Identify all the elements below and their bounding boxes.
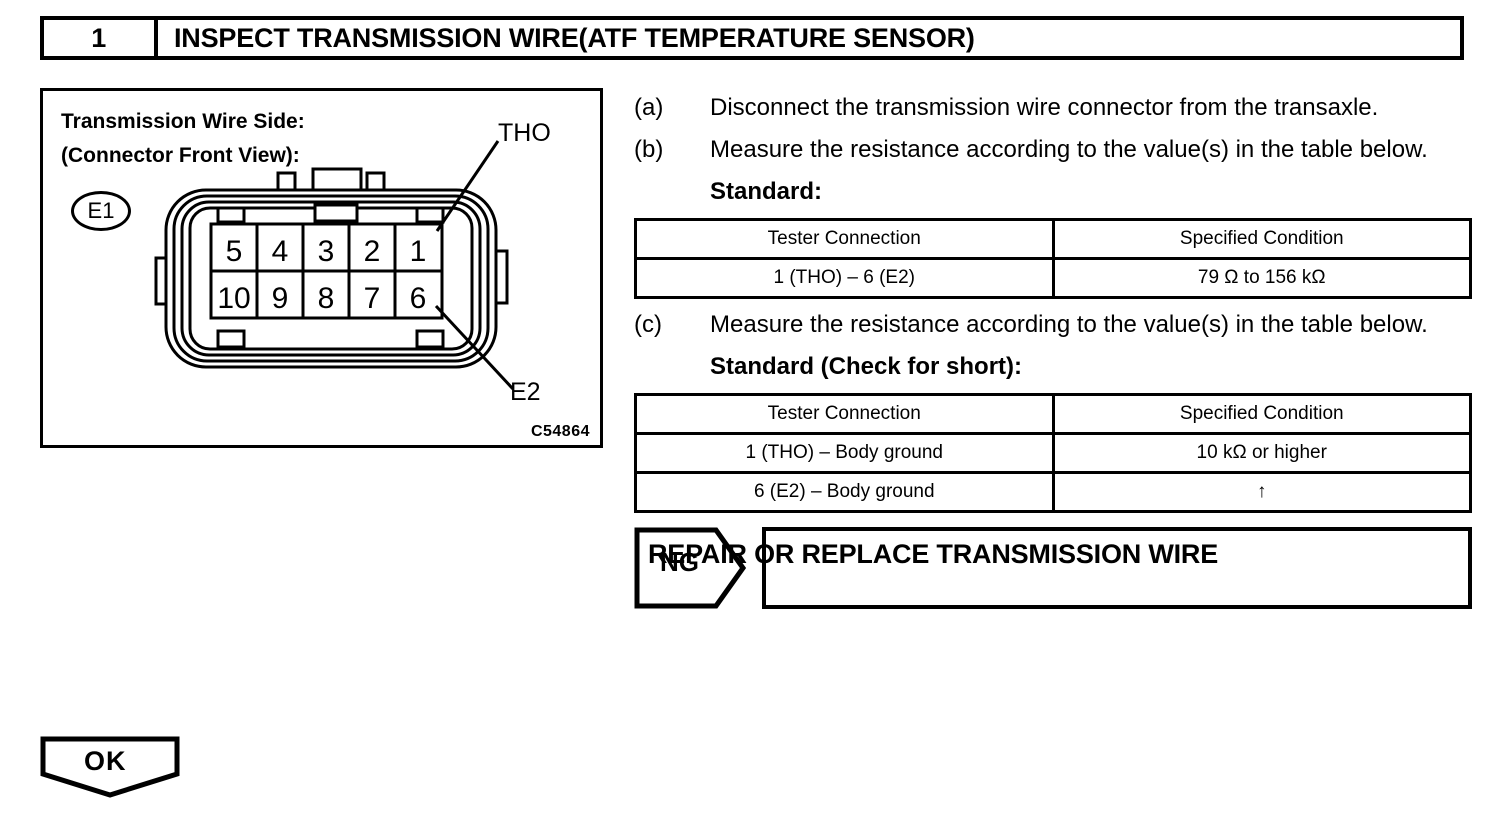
figure-code: C54864 <box>531 423 590 441</box>
instruction-a: (a) Disconnect the transmission wire con… <box>634 88 1472 128</box>
table-row: 6 (E2) – Body ground ↑ <box>636 473 1471 512</box>
cell-tester-connection: 6 (E2) – Body ground <box>636 473 1054 512</box>
instruction-marker: (a) <box>634 88 710 128</box>
spec-table-resistance: Tester Connection Specified Condition 1 … <box>634 218 1472 299</box>
result-row-ng: NG REPAIR OR REPLACE TRANSMISSION WIRE <box>634 527 1472 609</box>
step-header: 1 INSPECT TRANSMISSION WIRE(ATF TEMPERAT… <box>40 16 1464 60</box>
pin-label-2: 2 <box>364 235 381 268</box>
instruction-text: Measure the resistance according to the … <box>710 130 1472 170</box>
table-row: 1 (THO) – Body ground 10 kΩ or higher <box>636 434 1471 473</box>
pin-label-6: 6 <box>410 282 427 315</box>
standard-label-1: Standard: <box>710 172 1472 212</box>
pin-label-5: 5 <box>226 235 243 268</box>
pin-label-7: 7 <box>364 282 381 315</box>
connector-drawing: 5 4 3 2 1 10 9 8 7 6 <box>43 91 600 445</box>
instruction-marker: (c) <box>634 305 710 345</box>
pin-label-3: 3 <box>318 235 335 268</box>
ok-label: OK <box>84 746 127 777</box>
pin-label-9: 9 <box>272 282 289 315</box>
step-number: 1 <box>44 20 158 56</box>
cell-specified-condition: 10 kΩ or higher <box>1053 434 1471 473</box>
connector-figure-box: Transmission Wire Side: (Connector Front… <box>40 88 603 448</box>
cell-specified-condition: 79 Ω to 156 kΩ <box>1053 259 1471 298</box>
table-header-row: Tester Connection Specified Condition <box>636 395 1471 434</box>
procedure-column: (a) Disconnect the transmission wire con… <box>634 88 1472 609</box>
instruction-marker: (b) <box>634 130 710 170</box>
pin-label-8: 8 <box>318 282 335 315</box>
spec-table-short-check: Tester Connection Specified Condition 1 … <box>634 393 1472 513</box>
column-header-tester-connection: Tester Connection <box>636 395 1054 434</box>
ng-action-label: REPAIR OR REPLACE TRANSMISSION WIRE <box>648 539 1218 570</box>
result-ok: OK <box>40 736 180 798</box>
instruction-c: (c) Measure the resistance according to … <box>634 305 1472 345</box>
instruction-b: (b) Measure the resistance according to … <box>634 130 1472 170</box>
pin-label-10: 10 <box>217 282 250 315</box>
column-header-specified-condition: Specified Condition <box>1053 220 1471 259</box>
pin-label-4: 4 <box>272 235 289 268</box>
pin-label-1: 1 <box>410 235 427 268</box>
cell-tester-connection: 1 (THO) – Body ground <box>636 434 1054 473</box>
cell-tester-connection: 1 (THO) – 6 (E2) <box>636 259 1054 298</box>
step-title: INSPECT TRANSMISSION WIRE(ATF TEMPERATUR… <box>158 20 1460 56</box>
instruction-text: Disconnect the transmission wire connect… <box>710 88 1472 128</box>
instruction-text: Measure the resistance according to the … <box>710 305 1472 345</box>
standard-label-2: Standard (Check for short): <box>710 347 1472 387</box>
table-row: 1 (THO) – 6 (E2) 79 Ω to 156 kΩ <box>636 259 1471 298</box>
column-header-specified-condition: Specified Condition <box>1053 395 1471 434</box>
table-header-row: Tester Connection Specified Condition <box>636 220 1471 259</box>
column-header-tester-connection: Tester Connection <box>636 220 1054 259</box>
cell-specified-condition: ↑ <box>1053 473 1471 512</box>
